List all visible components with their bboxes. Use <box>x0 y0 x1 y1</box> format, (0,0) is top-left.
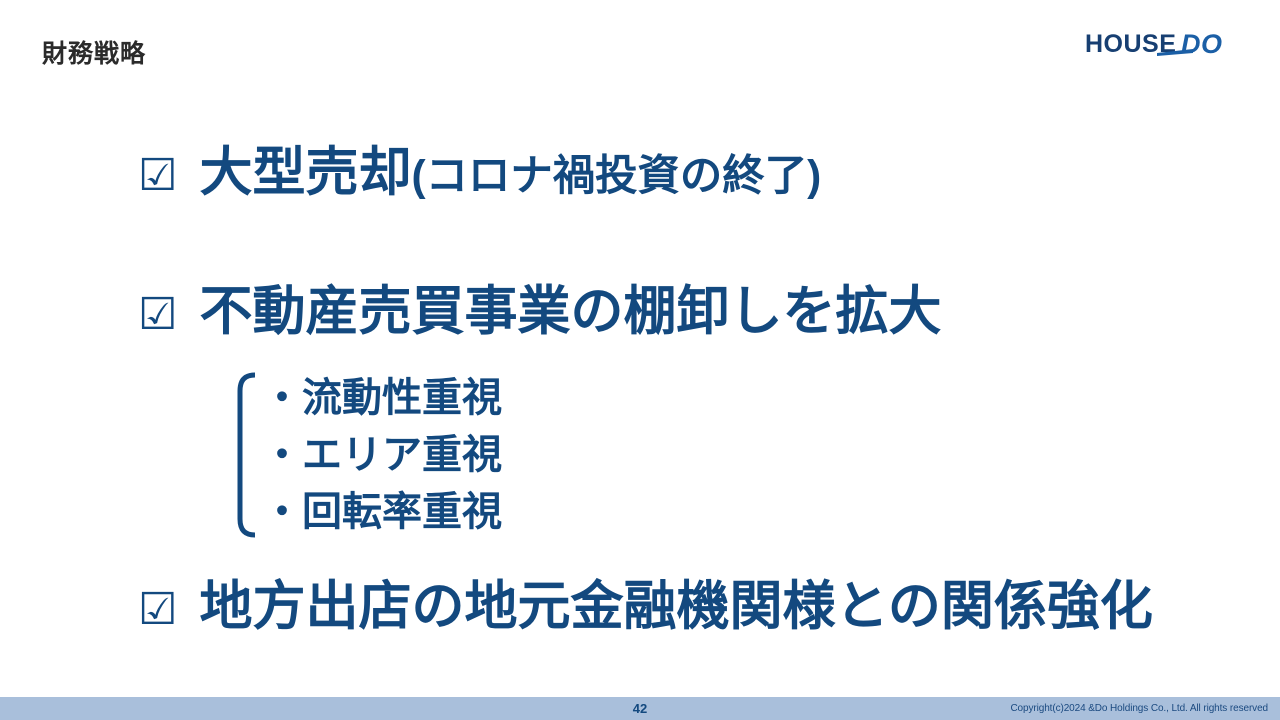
bullet-dot-icon: ・ <box>262 492 302 532</box>
bullet-item-3-text: 地方出店の地元金融機関様との関係強化 <box>199 580 1152 633</box>
sub-list-item: ・エリア重視 <box>262 429 502 481</box>
bullet-item-1-paren: (コロナ禍投資の終了) <box>411 152 821 199</box>
slide-content: ☑ 大型売却(コロナ禍投資の終了) ☑ 不動産売買事業の棚卸しを拡大 ・流動性重… <box>0 0 1280 697</box>
sub-list-item: ・流動性重視 <box>262 372 502 424</box>
checkbox-checked-icon: ☑ <box>138 588 177 632</box>
sub-list-item-label: 回転率重視 <box>302 492 502 532</box>
bracket-icon <box>236 372 256 538</box>
sub-list-group: ・流動性重視 ・エリア重視 ・回転率重視 <box>236 372 502 538</box>
slide: 財務戦略 HOUSE DO ☑ 大型売却(コロナ禍投資の終了) ☑ 不動産売買事… <box>0 0 1280 720</box>
bullet-item-2-lead: 不動産売買事業の棚卸しを拡大 <box>199 282 941 341</box>
bullet-item-1-text: 大型売却(コロナ禍投資の終了) <box>199 146 821 199</box>
sub-list-item: ・回転率重視 <box>262 486 502 538</box>
footer-bar: 42 Copyright(c)2024 &Do Holdings Co., Lt… <box>0 697 1280 720</box>
bullet-item-2-text: 不動産売買事業の棚卸しを拡大 <box>199 285 941 338</box>
left-bracket-shape <box>236 372 256 538</box>
bullet-item-2: ☑ 不動産売買事業の棚卸しを拡大 <box>138 285 941 338</box>
bullet-item-3: ☑ 地方出店の地元金融機関様との関係強化 <box>138 580 1153 633</box>
sub-list-item-label: 流動性重視 <box>302 378 502 418</box>
checkbox-checked-icon: ☑ <box>138 154 177 198</box>
bullet-dot-icon: ・ <box>262 378 302 418</box>
bullet-item-1-lead: 大型売却 <box>199 143 411 202</box>
bullet-item-1: ☑ 大型売却(コロナ禍投資の終了) <box>138 146 821 199</box>
copyright-text: Copyright(c)2024 &Do Holdings Co., Ltd. … <box>1010 697 1268 720</box>
bullet-item-3-lead: 地方出店の地元金融機関様との関係強化 <box>199 577 1152 636</box>
sub-list: ・流動性重視 ・エリア重視 ・回転率重視 <box>262 372 502 538</box>
checkbox-checked-icon: ☑ <box>138 293 177 337</box>
sub-list-item-label: エリア重視 <box>302 435 502 475</box>
bullet-dot-icon: ・ <box>262 435 302 475</box>
